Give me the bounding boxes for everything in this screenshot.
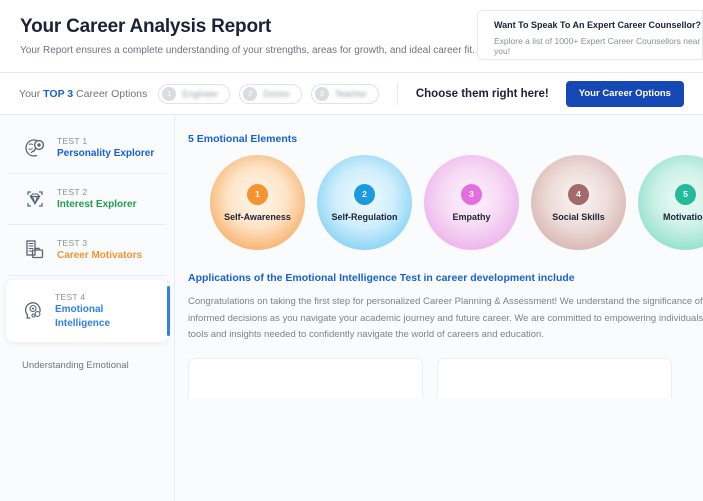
- label-highlight: TOP 3: [43, 88, 73, 100]
- chip-number: 1: [162, 87, 176, 101]
- sidebar-item-text: TEST 3 Career Motivators: [57, 238, 142, 263]
- sidebar-item-text: TEST 4 Emotional Intelligence: [55, 292, 158, 330]
- sidebar-item-emotional-intelligence[interactable]: TEST 4 Emotional Intelligence: [6, 280, 168, 342]
- element-label: Motivation: [663, 212, 703, 222]
- choose-them-text: Choose them right here!: [416, 88, 549, 100]
- career-chip-1[interactable]: 1 Engineer: [158, 84, 230, 104]
- element-circle-motivation[interactable]: 5 Motivation: [638, 155, 703, 250]
- sidebar-item-text: TEST 1 Personality Explorer: [57, 136, 154, 161]
- label-prefix: Your: [19, 88, 43, 100]
- bottom-cards-row: [188, 358, 703, 398]
- page-body: TEST 1 Personality Explorer TEST 2 Inter…: [0, 115, 703, 501]
- sidebar-item-text: TEST 2 Interest Explorer: [57, 187, 136, 212]
- chip-label: Doctor: [263, 89, 290, 99]
- briefcase-chart-icon: [22, 237, 48, 263]
- element-badge: 1: [247, 184, 268, 205]
- sidebar-item-label: Interest Explorer: [57, 198, 136, 212]
- sidebar-item-label: Career Motivators: [57, 249, 142, 263]
- element-badge: 2: [354, 184, 375, 205]
- element-circle-empathy[interactable]: 3 Empathy: [424, 155, 519, 250]
- element-label: Self-Awareness: [224, 212, 291, 222]
- head-gears-icon: [20, 298, 46, 324]
- element-badge: 3: [461, 184, 482, 205]
- element-badge: 4: [568, 184, 589, 205]
- nav-divider: [397, 83, 398, 105]
- element-circle-self-awareness[interactable]: 1 Self-Awareness: [210, 155, 305, 250]
- bottom-card-right[interactable]: [437, 358, 672, 398]
- career-chip-2[interactable]: 2 Doctor: [239, 84, 302, 104]
- emotional-elements-title: 5 Emotional Elements: [188, 133, 703, 145]
- element-circle-social-skills[interactable]: 4 Social Skills: [531, 155, 626, 250]
- element-label: Self-Regulation: [331, 212, 397, 222]
- sidebar-item-career-motivators[interactable]: TEST 3 Career Motivators: [8, 225, 166, 276]
- sidebar-footer-text: Understanding Emotional: [0, 346, 174, 371]
- your-career-options-button[interactable]: Your Career Options: [566, 81, 684, 107]
- top-career-options-label: Your TOP 3 Career Options: [19, 88, 147, 100]
- sidebar-item-label: Personality Explorer: [57, 147, 154, 161]
- sidebar-item-label: Emotional Intelligence: [55, 303, 158, 330]
- career-chip-3[interactable]: 3 Teacher: [311, 84, 379, 104]
- chip-number: 2: [243, 87, 257, 101]
- sidebar-item-kicker: TEST 4: [55, 292, 158, 303]
- chip-number: 3: [315, 87, 329, 101]
- page-title: Your Career Analysis Report: [20, 16, 475, 38]
- counsellor-promo-subtitle: Explore a list of 1000+ Expert Career Co…: [494, 36, 702, 56]
- sidebar-item-personality-explorer[interactable]: TEST 1 Personality Explorer: [8, 123, 166, 174]
- applications-title: Applications of the Emotional Intelligen…: [188, 272, 703, 284]
- element-badge: 5: [675, 184, 696, 205]
- chip-label: Engineer: [182, 89, 218, 99]
- sidebar-item-kicker: TEST 3: [57, 238, 142, 249]
- tests-sidebar: TEST 1 Personality Explorer TEST 2 Inter…: [0, 115, 175, 501]
- main-content: 5 Emotional Elements 1 Self-Awareness 2 …: [175, 115, 703, 501]
- counsellor-promo-title: Want To Speak To An Expert Career Counse…: [494, 20, 702, 30]
- sidebar-item-kicker: TEST 1: [57, 136, 154, 147]
- element-circle-self-regulation[interactable]: 2 Self-Regulation: [317, 155, 412, 250]
- page-header: Your Career Analysis Report Your Report …: [0, 0, 703, 73]
- career-report-page: Your Career Analysis Report Your Report …: [0, 0, 703, 501]
- brain-magnifier-icon: [22, 135, 48, 161]
- label-suffix: Career Options: [73, 88, 147, 100]
- applications-body: Congratulations on taking the first step…: [188, 294, 703, 344]
- sidebar-item-interest-explorer[interactable]: TEST 2 Interest Explorer: [8, 174, 166, 225]
- header-text-block: Your Career Analysis Report Your Report …: [0, 16, 475, 56]
- counsellor-promo-card[interactable]: Want To Speak To An Expert Career Counse…: [477, 10, 703, 60]
- diamond-scan-icon: [22, 186, 48, 212]
- chip-label: Teacher: [335, 89, 367, 99]
- page-subtitle: Your Report ensures a complete understan…: [20, 45, 475, 56]
- bottom-card-left[interactable]: [188, 358, 423, 398]
- sidebar-item-kicker: TEST 2: [57, 187, 136, 198]
- career-options-bar: Your TOP 3 Career Options 1 Engineer 2 D…: [0, 73, 703, 115]
- element-label: Social Skills: [552, 212, 605, 222]
- element-label: Empathy: [452, 212, 490, 222]
- emotional-elements-row: 1 Self-Awareness 2 Self-Regulation 3 Emp…: [210, 155, 703, 250]
